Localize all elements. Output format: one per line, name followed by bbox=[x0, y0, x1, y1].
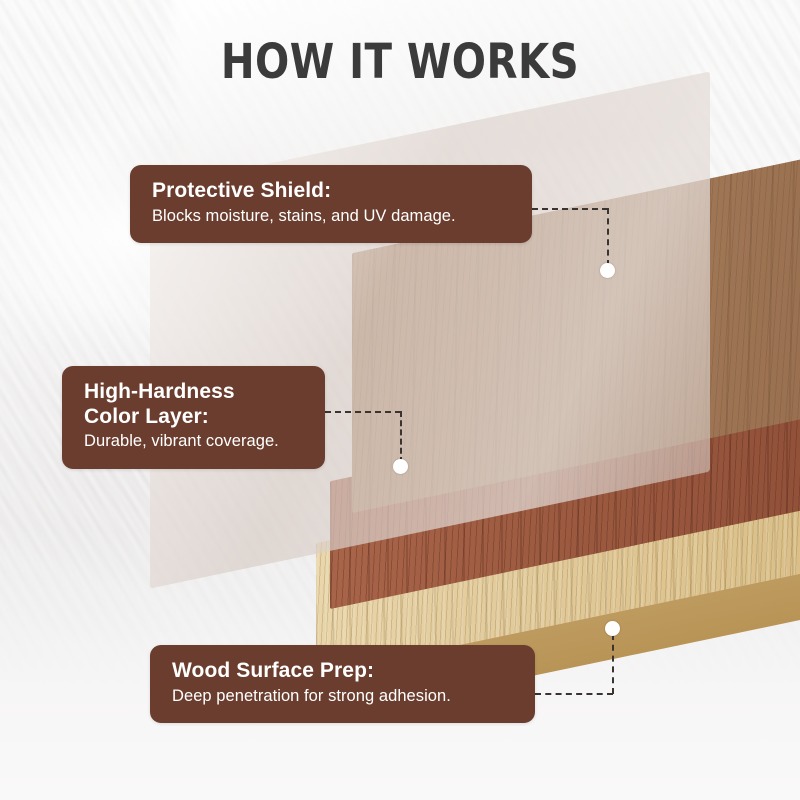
marker-dot-protective-shield bbox=[600, 263, 615, 278]
page-title: HOW IT WORKS bbox=[64, 34, 736, 90]
marker-dot-wood-surface-prep bbox=[605, 621, 620, 636]
callout-wood-surface-prep[interactable]: Wood Surface Prep: Deep penetration for … bbox=[150, 645, 535, 723]
callout-title: Wood Surface Prep: bbox=[172, 659, 515, 684]
leader-line-shield-horizontal bbox=[532, 208, 608, 210]
callout-description: Deep penetration for strong adhesion. bbox=[172, 686, 515, 707]
marker-dot-color-layer bbox=[393, 459, 408, 474]
callout-title: Protective Shield: bbox=[152, 179, 512, 204]
leader-line-wood-horizontal bbox=[535, 693, 613, 695]
callout-description: Blocks moisture, stains, and UV damage. bbox=[152, 206, 512, 227]
leader-line-color-vertical bbox=[400, 411, 402, 463]
callout-protective-shield[interactable]: Protective Shield: Blocks moisture, stai… bbox=[130, 165, 532, 243]
callout-description: Durable, vibrant coverage. bbox=[84, 431, 305, 452]
leader-line-color-horizontal bbox=[325, 411, 401, 413]
leader-line-wood-vertical bbox=[612, 634, 614, 694]
callout-title: High-Hardness Color Layer: bbox=[84, 380, 305, 429]
infographic-canvas: HOW IT WORKS Protective Shield: Blocks m… bbox=[0, 0, 800, 800]
callout-color-layer[interactable]: High-Hardness Color Layer: Durable, vibr… bbox=[62, 366, 325, 469]
leader-line-shield-vertical bbox=[607, 208, 609, 266]
